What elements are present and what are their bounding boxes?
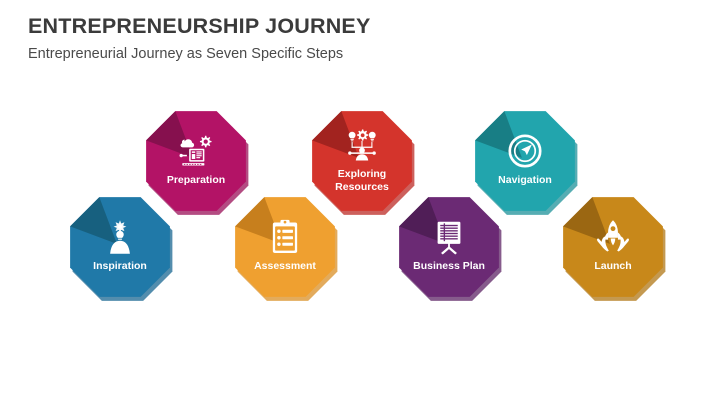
step-label: Launch [594, 260, 631, 272]
octagon-process-chart: InspirationPreparationAssessmentExplorin… [0, 0, 720, 404]
step-label-line: Launch [594, 260, 631, 272]
step-label-line: Inspiration [93, 260, 147, 272]
step-label: Preparation [167, 174, 225, 186]
step-label-line: Resources [335, 181, 389, 193]
clipboard-checklist-icon [273, 220, 297, 253]
step-1-inspiration[interactable]: Inspiration [70, 197, 172, 301]
step-label: Inspiration [93, 260, 147, 272]
step-label-line: Assessment [254, 260, 316, 272]
process-diagram: InspirationPreparationAssessmentExplorin… [0, 0, 720, 404]
step-6-navigation[interactable]: Navigation [475, 111, 577, 215]
step-label-line: Navigation [498, 174, 552, 186]
step-7-launch[interactable]: Launch [563, 197, 665, 301]
step-label: Business Plan [413, 260, 485, 272]
step-4-exploring-resources[interactable]: ExploringResources [312, 111, 414, 215]
step-3-assessment[interactable]: Assessment [235, 197, 337, 301]
compass-icon [510, 136, 540, 166]
step-label: ExploringResources [335, 168, 389, 193]
step-2-preparation[interactable]: Preparation [146, 111, 248, 215]
step-5-business-plan[interactable]: Business Plan [399, 197, 501, 301]
step-label-line: Business Plan [413, 260, 485, 272]
step-label: Navigation [498, 174, 552, 186]
octagon-layer: InspirationPreparationAssessmentExplorin… [70, 111, 665, 301]
step-label-line: Preparation [167, 174, 225, 186]
step-label-line: Exploring [338, 168, 386, 180]
step-label: Assessment [254, 260, 316, 272]
